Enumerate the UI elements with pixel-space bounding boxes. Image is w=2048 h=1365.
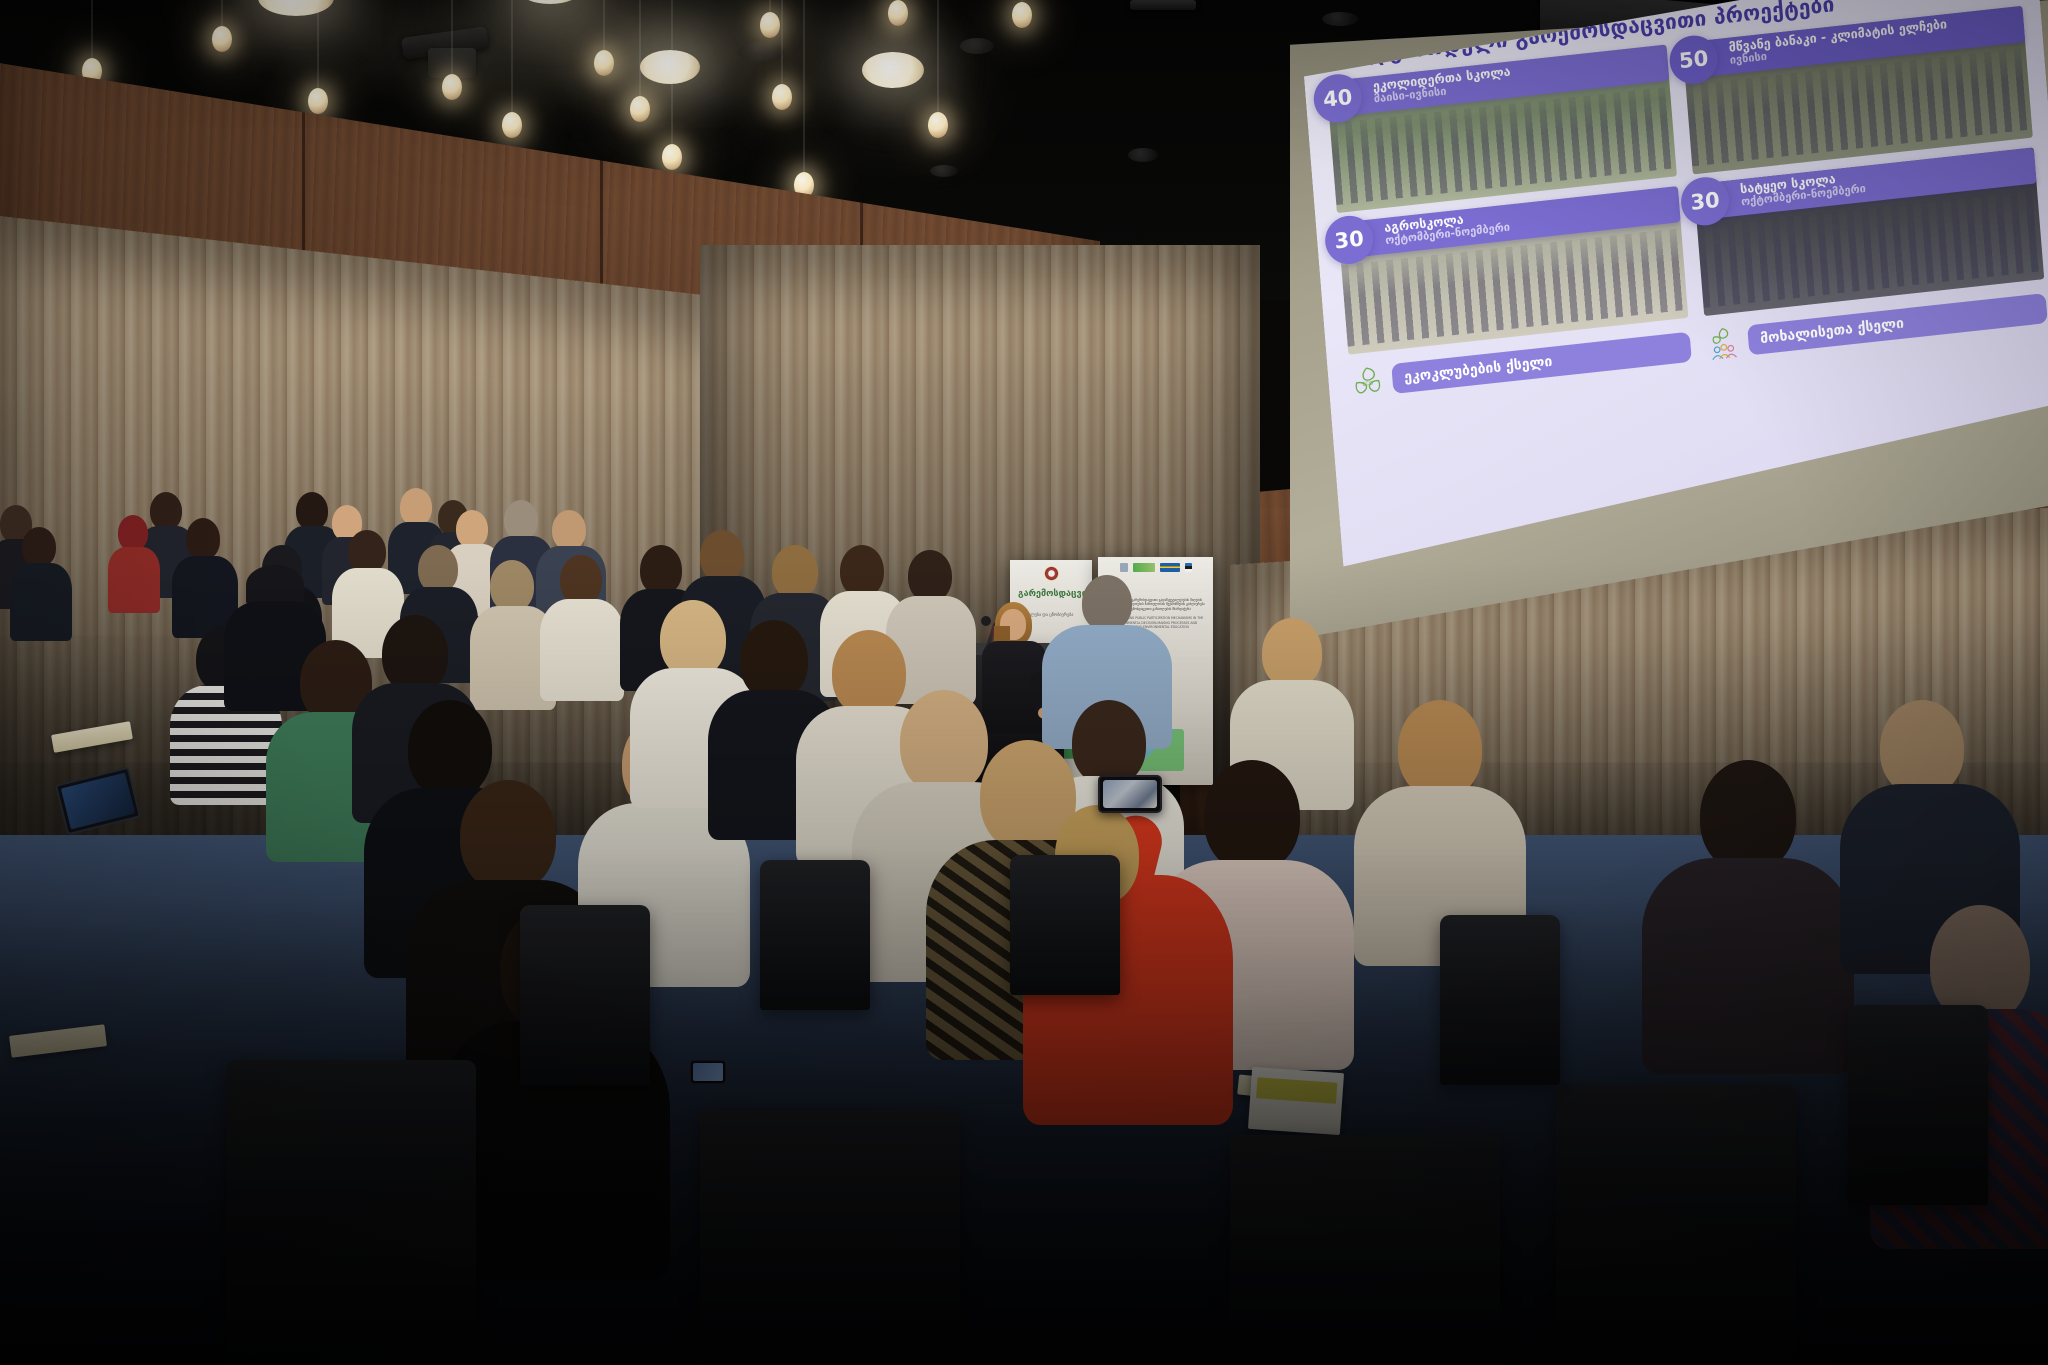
auditorium-chair: [1556, 1085, 1796, 1365]
auditorium-chair: [1230, 1135, 1500, 1365]
ceiling-disc-light: [640, 50, 700, 84]
slide-card: სატყეო სკოლა ოქტომბერი-ნოემბერი 30: [1694, 147, 2045, 316]
slide-card: ეკოლიდერთა სკოლა მაისი-ივნისი 40: [1326, 45, 1677, 214]
ceiling-speaker-icon: [930, 165, 958, 177]
slide-card: აგროსკოლა ოქტომბერი-ნოემბერი 30: [1338, 186, 1689, 355]
program-booklet: [1248, 1067, 1344, 1135]
auditorium-chair: [226, 1060, 476, 1360]
ceiling-speaker-icon: [738, 42, 784, 62]
smartphone-recording[interactable]: [1098, 775, 1162, 813]
auditorium-chair: [1848, 1005, 1988, 1205]
svg-text:ECO: ECO: [1362, 381, 1373, 388]
volunteers-people-icon: [1705, 324, 1742, 362]
green-partner-logo-icon: [1133, 563, 1155, 572]
estonia-logo-icon: [1185, 563, 1192, 572]
auditorium-chair: [1010, 855, 1120, 995]
lighting-track-rig: [1130, 0, 1196, 10]
microphone-head-icon: [981, 616, 991, 626]
auditorium-chair: [700, 1110, 960, 1365]
ceiling-speaker-icon: [960, 38, 994, 54]
georgia-coat-of-arms-icon: [1044, 566, 1059, 581]
banner-logo-row: [1098, 557, 1213, 572]
sweden-sverige-flag-icon: [1160, 563, 1180, 572]
ceiling-speaker-icon: [1128, 148, 1158, 162]
auditorium-chair: [1440, 915, 1560, 1085]
ceiling-disc-light: [862, 52, 924, 88]
banner-logo-row: [1010, 560, 1092, 581]
auditorium-chair: [520, 905, 650, 1085]
auditorium-chair: [760, 860, 870, 1010]
slide-card: მწვანე ბანაკი - კლიმატის ელჩები ივნისი 5…: [1682, 6, 2033, 175]
banner-heading-left: გარემოსდაცვითი: [1018, 590, 1084, 600]
smartphone[interactable]: [690, 1060, 726, 1084]
eco-leaves-icon: ECO: [1349, 363, 1386, 401]
projection-screen: ახალგაზრდული გარემოსდაცვითი პროექტები ეკ…: [1290, 0, 2048, 660]
un-logo-icon: [1120, 563, 1128, 572]
conference-hall-scene: ახალგაზრდული გარემოსდაცვითი პროექტები ეკ…: [0, 0, 2048, 1365]
